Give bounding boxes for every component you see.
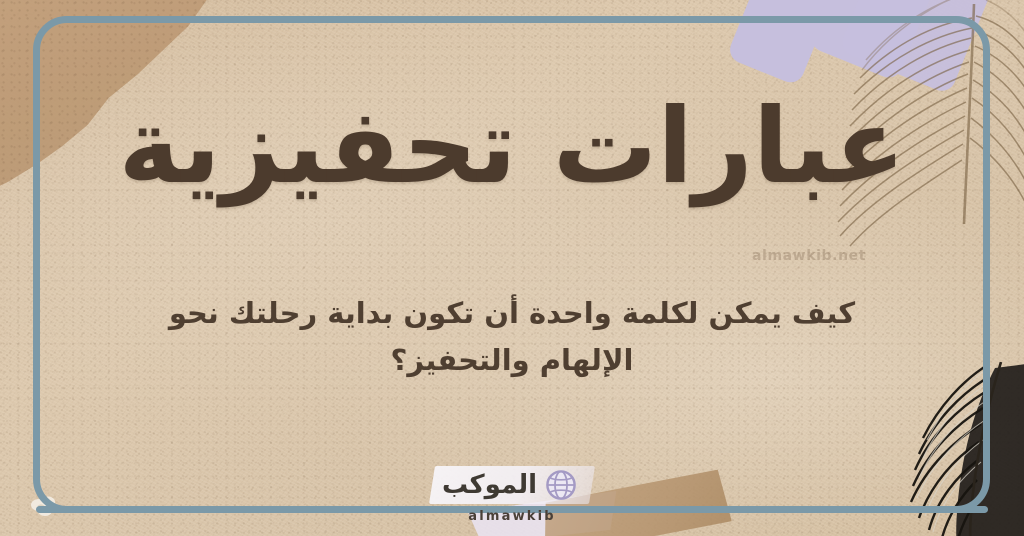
logo-plate: الموكب bbox=[429, 466, 595, 504]
poster-canvas: عبارات تحفيزية كيف يمكن لكلمة واحدة أن ت… bbox=[0, 0, 1024, 536]
watermark-text: almawkib.net bbox=[752, 248, 866, 264]
page-subtitle: كيف يمكن لكلمة واحدة أن تكون بداية رحلتك… bbox=[140, 290, 884, 384]
logo-latin-name: almawkib bbox=[468, 509, 556, 524]
globe-icon bbox=[546, 470, 576, 500]
logo-arabic-name: الموكب bbox=[442, 470, 537, 500]
brand-logo[interactable]: الموكب almawkib bbox=[0, 466, 1024, 524]
page-title: عبارات تحفيزية bbox=[0, 92, 1024, 201]
